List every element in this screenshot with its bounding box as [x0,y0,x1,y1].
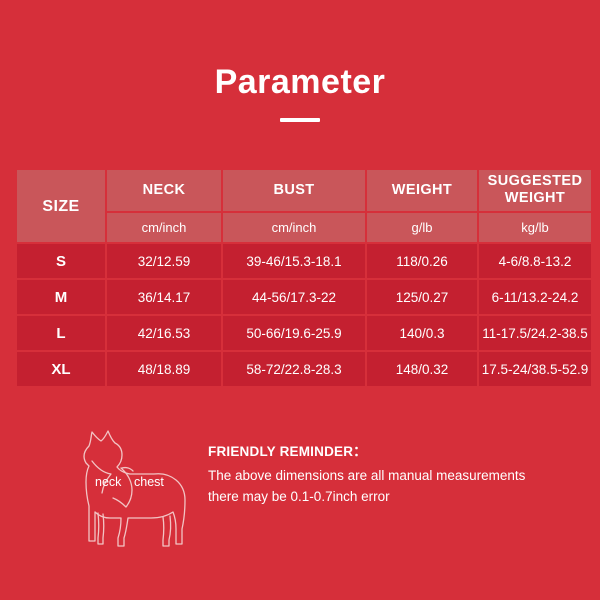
cell-bust: 44-56/17.3-22 [223,280,365,314]
title-block: Parameter [0,0,600,122]
table-row: XL 48/18.89 58-72/22.8-28.3 148/0.32 17.… [17,352,591,386]
parameter-table: SIZE NECK BUST WEIGHT SUGGESTED WEIGHT c… [15,168,593,388]
table-row: M 36/14.17 44-56/17.3-22 125/0.27 6-11/1… [17,280,591,314]
dog-outline-icon [58,428,208,553]
cell-bust: 50-66/19.6-25.9 [223,316,365,350]
column-unit-weight: g/lb [367,213,477,242]
reminder-title: FRIENDLY REMINDER： [208,440,568,460]
reminder-line-1: The above dimensions are all manual meas… [208,465,568,486]
cell-suggested: 11-17.5/24.2-38.5 [479,316,591,350]
parameter-table-container: SIZE NECK BUST WEIGHT SUGGESTED WEIGHT c… [15,168,585,388]
friendly-reminder-block: FRIENDLY REMINDER： The above dimensions … [208,440,568,507]
column-header-bust: BUST [223,170,365,211]
cell-weight: 125/0.27 [367,280,477,314]
reminder-line-2: there may be 0.1-0.7inch error [208,486,568,507]
cell-suggested: 4-6/8.8-13.2 [479,244,591,278]
column-header-size: SIZE [17,170,105,242]
column-unit-suggested-weight: kg/lb [479,213,591,242]
cell-bust: 58-72/22.8-28.3 [223,352,365,386]
diagram-label-neck: neck [95,475,121,489]
column-header-suggested-weight: SUGGESTED WEIGHT [479,170,591,211]
table-row: L 42/16.53 50-66/19.6-25.9 140/0.3 11-17… [17,316,591,350]
cell-size: L [17,316,105,350]
size-chart-page: { "header": { "title": "Parameter" }, "t… [0,0,600,600]
column-unit-neck: cm/inch [107,213,221,242]
table-row: S 32/12.59 39-46/15.3-18.1 118/0.26 4-6/… [17,244,591,278]
page-title: Parameter [0,62,600,102]
diagram-label-chest: chest [134,475,164,489]
cell-weight: 140/0.3 [367,316,477,350]
cell-neck: 42/16.53 [107,316,221,350]
cell-neck: 48/18.89 [107,352,221,386]
cell-size: XL [17,352,105,386]
cell-suggested: 6-11/13.2-24.2 [479,280,591,314]
cell-bust: 39-46/15.3-18.1 [223,244,365,278]
cell-weight: 118/0.26 [367,244,477,278]
cell-neck: 36/14.17 [107,280,221,314]
cell-weight: 148/0.32 [367,352,477,386]
bottom-section: neck chest FRIENDLY REMINDER： The above … [0,420,600,570]
cell-size: S [17,244,105,278]
dog-measurement-diagram: neck chest [58,428,208,553]
column-unit-bust: cm/inch [223,213,365,242]
title-underline-divider [280,118,320,122]
column-header-weight: WEIGHT [367,170,477,211]
column-header-neck: NECK [107,170,221,211]
cell-suggested: 17.5-24/38.5-52.9 [479,352,591,386]
cell-neck: 32/12.59 [107,244,221,278]
table-header-row-labels: SIZE NECK BUST WEIGHT SUGGESTED WEIGHT [17,170,591,211]
cell-size: M [17,280,105,314]
